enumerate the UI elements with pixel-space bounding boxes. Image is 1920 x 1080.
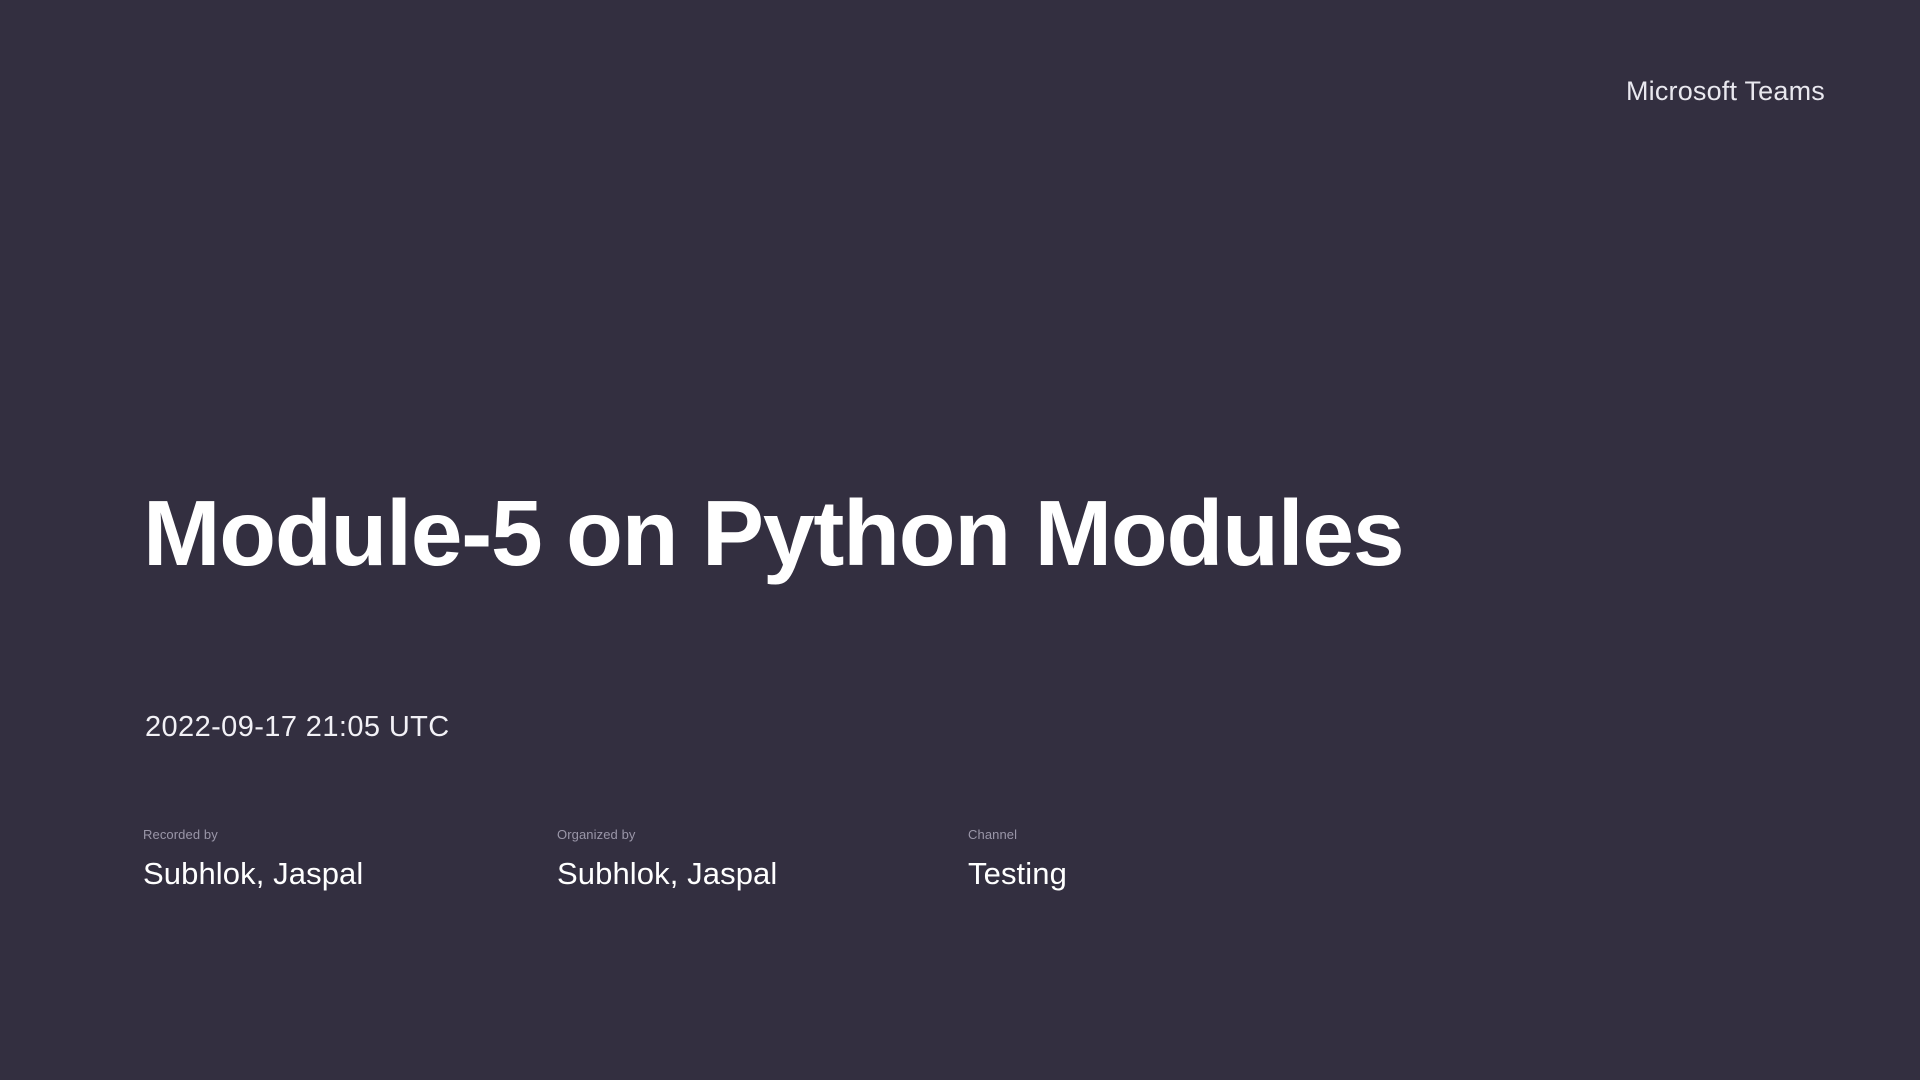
metadata-column-organized-by: Organized by Subhlok, Jaspal bbox=[557, 828, 777, 889]
metadata-value-channel: Testing bbox=[968, 858, 1067, 889]
metadata-label-channel: Channel bbox=[968, 828, 1067, 841]
metadata-label-recorded-by: Recorded by bbox=[143, 828, 363, 841]
recording-timestamp: 2022-09-17 21:05 UTC bbox=[145, 713, 450, 742]
teams-recording-title-card: Microsoft Teams Module-5 on Python Modul… bbox=[0, 0, 1920, 1080]
metadata-row: Recorded by Subhlok, Jaspal Organized by… bbox=[143, 828, 1543, 918]
metadata-column-channel: Channel Testing bbox=[968, 828, 1067, 889]
metadata-label-organized-by: Organized by bbox=[557, 828, 777, 841]
metadata-value-organized-by: Subhlok, Jaspal bbox=[557, 858, 777, 889]
metadata-value-recorded-by: Subhlok, Jaspal bbox=[143, 858, 363, 889]
microsoft-teams-brand-label: Microsoft Teams bbox=[1626, 78, 1825, 105]
metadata-column-recorded-by: Recorded by Subhlok, Jaspal bbox=[143, 828, 363, 889]
page-title: Module-5 on Python Modules bbox=[143, 487, 1403, 580]
